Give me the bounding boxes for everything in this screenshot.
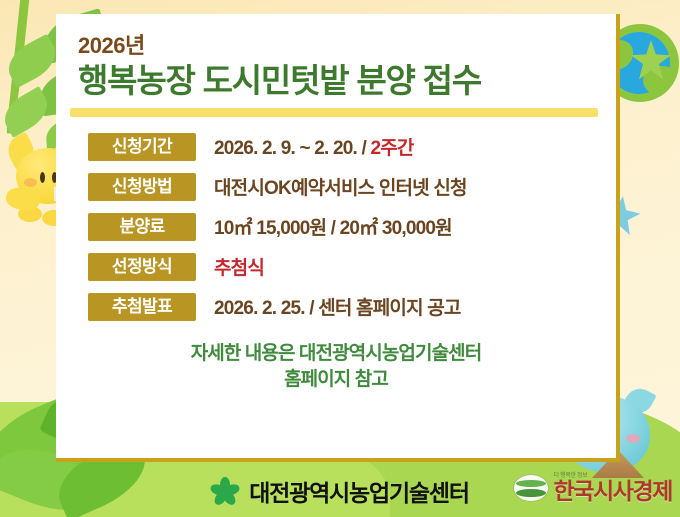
wave-leaf-icon (514, 475, 548, 501)
info-row-value: 추첨식 (214, 253, 264, 280)
info-row-list: 신청기간 2026. 2. 9. ~ 2. 20. / 2주간 신청방법 대전시… (56, 133, 616, 321)
footer-note: 자세한 내용은 대전광역시농업기술센터 홈페이지 참고 (56, 341, 616, 392)
info-row-value: 2026. 2. 25. / 센터 홈페이지 공고 (214, 293, 461, 320)
info-row-label: 추첨발표 (88, 293, 196, 321)
mascot-arm (4, 184, 42, 214)
info-row-label: 신청방법 (88, 173, 196, 201)
earth-land (643, 66, 679, 98)
info-row: 신청기간 2026. 2. 9. ~ 2. 20. / 2주간 (88, 133, 598, 161)
value-highlight: 추첨식 (214, 258, 264, 279)
title-divider (70, 108, 598, 117)
press-watermark: 더 행복한 정보 한국시사경제 (514, 473, 672, 503)
info-row-label: 분양료 (88, 213, 196, 241)
info-row-value: 대전시OK예약서비스 인터넷 신청 (214, 173, 467, 200)
leaf-icon (1, 34, 63, 88)
watermark-text: 더 행복한 정보 한국시사경제 (553, 473, 672, 503)
value-text: 10㎡ 15,000원 / 20㎡ 30,000원 (214, 218, 452, 239)
mascot-cheek (626, 434, 640, 443)
info-row-value: 10㎡ 15,000원 / 20㎡ 30,000원 (214, 213, 452, 240)
info-row-label: 선정방식 (88, 253, 196, 281)
title-block: 2026년 행복농장 도시민텃밭 분양 접수 (56, 14, 616, 100)
footer-note-line-2: 홈페이지 참고 (56, 367, 616, 393)
content-card: 2026년 행복농장 도시민텃밭 분양 접수 신청기간 2026. 2. 9. … (56, 14, 620, 462)
footer-note-line-1: 자세한 내용은 대전광역시농업기술센터 (56, 341, 616, 367)
vine-stem-decoration (6, 0, 31, 134)
value-highlight: 2주간 (370, 138, 413, 159)
flower-pinwheel-icon (211, 477, 239, 505)
info-row: 신청방법 대전시OK예약서비스 인터넷 신청 (88, 173, 598, 201)
mascot-foot (18, 206, 42, 222)
value-text: 2026. 2. 25. / 센터 홈페이지 공고 (214, 298, 461, 319)
info-row-label: 신청기간 (88, 133, 196, 161)
info-row: 추첨발표 2026. 2. 25. / 센터 홈페이지 공고 (88, 293, 598, 321)
mascot-ear (621, 383, 656, 418)
mascot-cheek (24, 178, 37, 187)
leaf-icon (0, 86, 55, 138)
mascot-ear (2, 132, 39, 171)
info-row: 선정방식 추첨식 (88, 253, 598, 281)
info-row: 분양료 10㎡ 15,000원 / 20㎡ 30,000원 (88, 213, 598, 241)
organization-name: 대전광역시농업기술센터 (249, 474, 469, 508)
value-text: 대전시OK예약서비스 인터넷 신청 (214, 178, 467, 199)
earth-star (631, 40, 671, 80)
watermark-title: 한국시사경제 (553, 480, 672, 503)
info-row-value: 2026. 2. 9. ~ 2. 20. / 2주간 (214, 133, 414, 160)
title-year: 2026년 (78, 28, 616, 60)
page-title: 행복농장 도시민텃밭 분양 접수 (78, 63, 616, 100)
mascot-eye (40, 172, 45, 183)
poster-root: 2026년 행복농장 도시민텃밭 분양 접수 신청기간 2026. 2. 9. … (0, 0, 680, 517)
value-text: 2026. 2. 9. ~ 2. 20. / (214, 138, 370, 159)
organization-identity: 대전광역시농업기술센터 (211, 474, 469, 508)
